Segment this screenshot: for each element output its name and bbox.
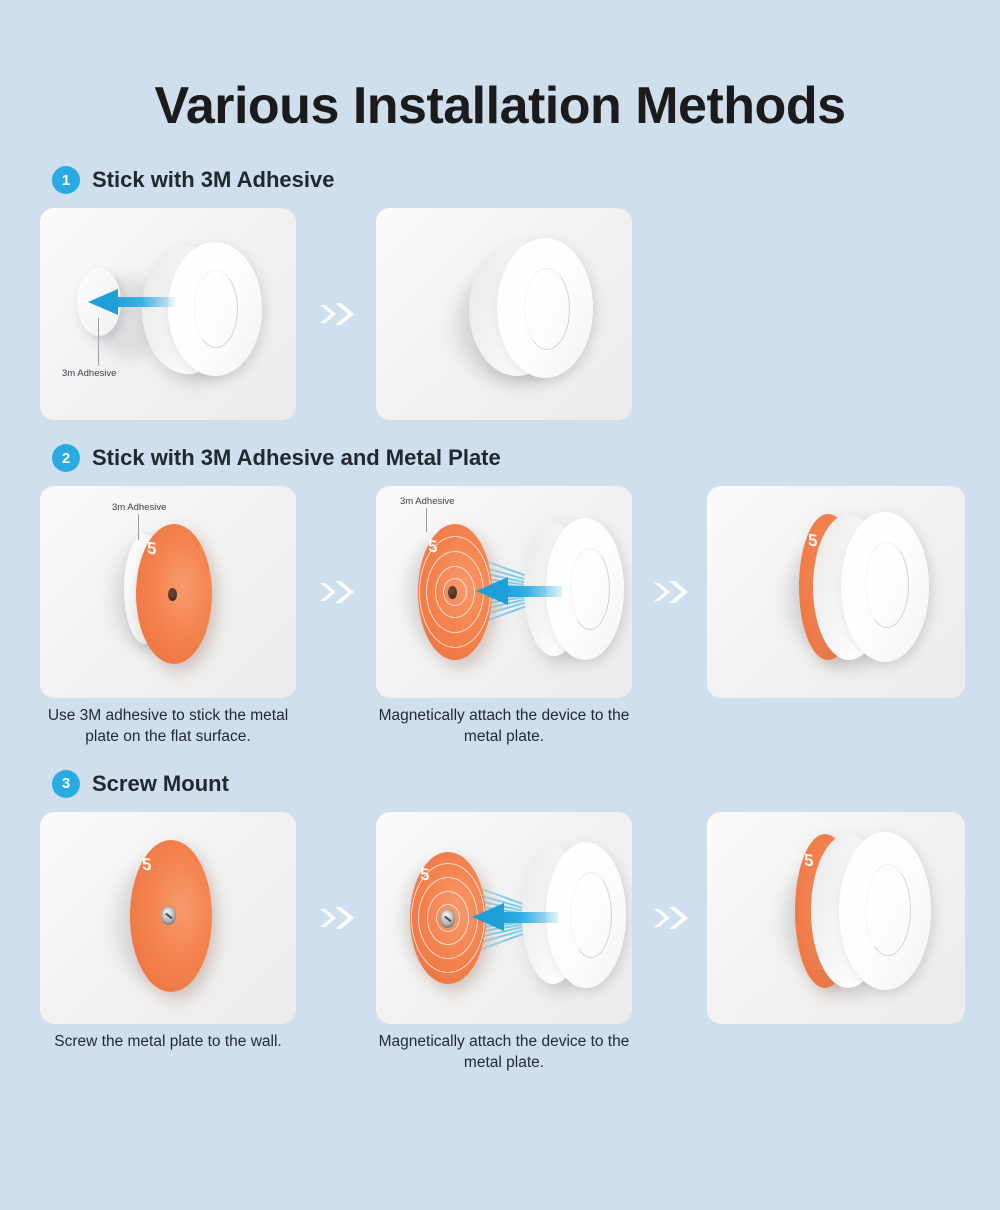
step-heading-3: 3 Screw Mount	[0, 770, 1000, 798]
step-3-panel-1: 5	[40, 812, 296, 1024]
illustration-plate-screwed: 5	[40, 812, 296, 1024]
plate-logo: 5	[147, 539, 156, 557]
screw-head	[440, 909, 455, 928]
direction-arrow-icon	[476, 576, 562, 611]
step-title-3: Screw Mount	[92, 771, 229, 797]
screw-head	[161, 906, 176, 925]
step-3-caption-2: Magnetically attach the device to the me…	[376, 1032, 632, 1074]
illustration-magnetic-attach: 5	[376, 486, 632, 698]
leader-line	[138, 514, 139, 540]
leader-line	[98, 318, 99, 366]
step-2-caption-2: Magnetically attach the device to the me…	[376, 706, 632, 748]
step-3-panel-2: 5	[376, 812, 632, 1024]
step-2-panel-1: 5 3m Adhesive	[40, 486, 296, 698]
illustration-device-on-plate-screw: 5	[707, 812, 965, 1024]
step-1-panel-1: 3m Adhesive	[40, 208, 296, 420]
step-badge-1: 1	[52, 166, 80, 194]
step-3-caption-1: Screw the metal plate to the wall.	[40, 1032, 296, 1053]
adhesive-label: 3m Adhesive	[62, 368, 116, 379]
step-badge-2: 2	[52, 444, 80, 472]
adhesive-label: 3m Adhesive	[400, 496, 454, 507]
step-title-2: Stick with 3M Adhesive and Metal Plate	[92, 445, 501, 471]
metal-plate: 5	[136, 524, 212, 664]
double-chevron-right-icon	[650, 575, 690, 609]
double-chevron-right-icon	[316, 575, 356, 609]
direction-arrow-icon	[88, 288, 178, 321]
page-title: Various Installation Methods	[0, 0, 1000, 132]
step-3-panel-row: 5 Screw the metal plate to the wall.	[0, 812, 1000, 1074]
step-heading-1: 1 Stick with 3M Adhesive	[0, 166, 1000, 194]
illustration-adhesive-and-device: 3m Adhesive	[40, 208, 296, 420]
plate-logo: 5	[808, 531, 817, 549]
adhesive-label: 3m Adhesive	[112, 502, 166, 513]
illustration-magnetic-attach-screw: 5	[376, 812, 632, 1024]
step-2-panel-3: 5	[707, 486, 965, 698]
step-2-panel-2: 5	[376, 486, 632, 698]
step-3-panel-3: 5	[707, 812, 965, 1024]
step-2-caption-1: Use 3M adhesive to stick the metal plate…	[40, 706, 296, 748]
illustration-device-mounted	[376, 208, 632, 420]
step-badge-3: 3	[52, 770, 80, 798]
plate-logo: 5	[804, 851, 813, 869]
illustration-device-on-plate: 5	[707, 486, 965, 698]
illustration-plate-on-wall: 5 3m Adhesive	[40, 486, 296, 698]
step-1-panel-2	[376, 208, 632, 420]
step-title-1: Stick with 3M Adhesive	[92, 167, 334, 193]
direction-arrow-icon	[472, 902, 558, 937]
plate-logo: 5	[142, 855, 151, 873]
step-heading-2: 2 Stick with 3M Adhesive and Metal Plate	[0, 444, 1000, 472]
step-2-panel-row: 5 3m Adhesive Use 3M adhesive to stick t…	[0, 486, 1000, 748]
double-chevron-right-icon	[316, 297, 356, 331]
leader-line	[426, 508, 427, 532]
double-chevron-right-icon	[316, 901, 356, 935]
step-1-panel-row: 3m Adhesive	[0, 208, 1000, 420]
metal-plate: 5	[130, 840, 212, 992]
double-chevron-right-icon	[650, 901, 690, 935]
